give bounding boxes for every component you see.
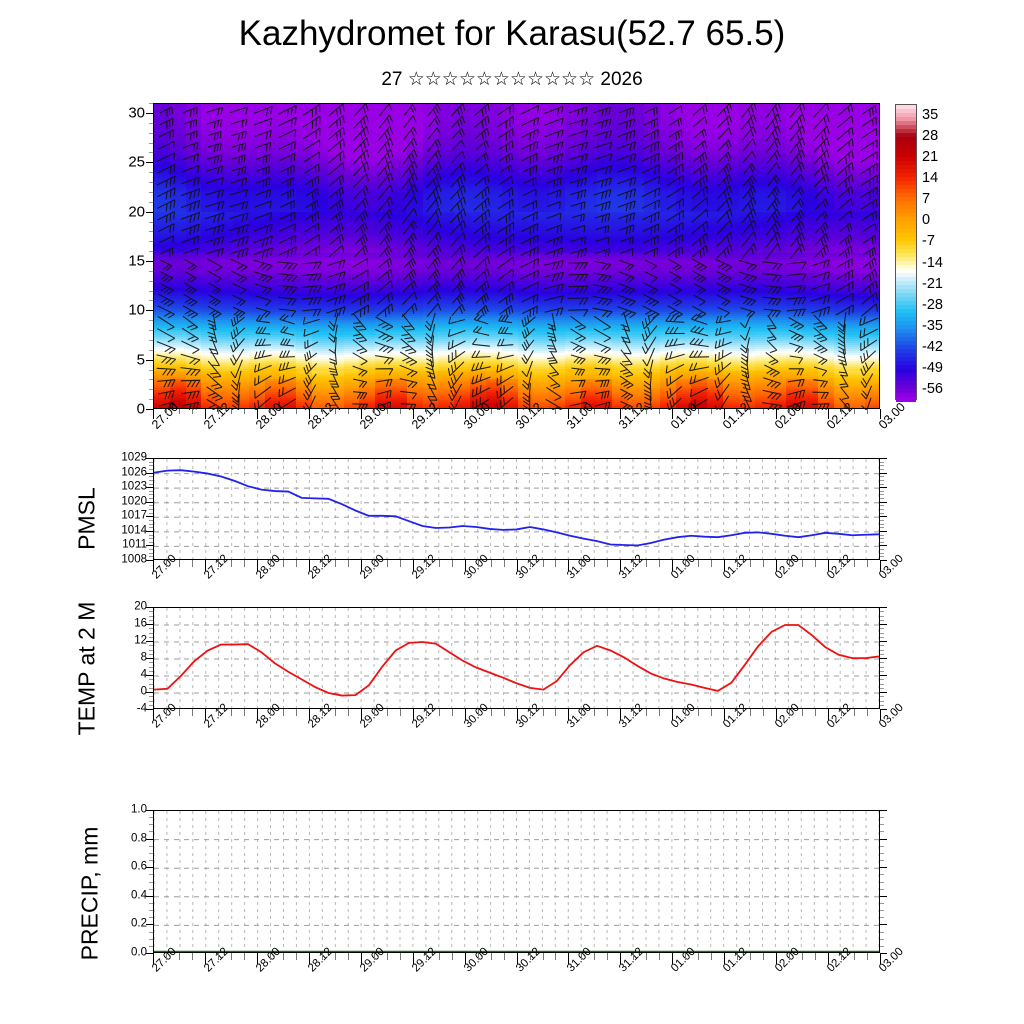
temp2m-y-tick (146, 607, 153, 608)
pmsl-x-tick-minor (231, 560, 232, 567)
temp2m-y-tick (880, 709, 887, 710)
temp2m-y-tick-minor (880, 662, 884, 663)
cross-section-x-minor-tick (387, 409, 388, 414)
cross-section-y-tick-label: 10 (105, 303, 145, 318)
pmsl-x-tick-minor (166, 560, 167, 567)
cross-section-x-minor-tick (491, 409, 492, 414)
subtitle-month-glyphs: ☆☆☆☆☆☆☆☆☆☆☆ (408, 69, 595, 90)
temp2m-y-tick-minor (149, 611, 153, 612)
subtitle-day: 27 (381, 69, 402, 90)
temp2m-x-tick-minor (491, 709, 492, 716)
precip-y-tick (146, 896, 153, 897)
temp2m-x-tick-minor (504, 709, 505, 716)
precip-x-tick-minor (633, 953, 634, 960)
precip-panel (153, 810, 880, 953)
precip-x-tick-minor (192, 953, 193, 960)
precip-y-tick-label: 1.0 (101, 804, 147, 816)
pmsl-x-tick-minor (348, 560, 349, 567)
temp2m-y-tick (146, 675, 153, 676)
precip-y-tick-minor (149, 831, 153, 832)
temp2m-y-tick-minor (880, 688, 884, 689)
cross-section-y-minor-tick (149, 251, 153, 252)
precip-x-tick-minor (763, 953, 764, 960)
precip-y-tick (880, 810, 887, 811)
temp2m-panel (153, 607, 880, 709)
temp2m-x-tick-minor (815, 709, 816, 716)
precip-y-tick (880, 924, 887, 925)
precip-y-tick-minor (880, 939, 884, 940)
cross-section-y-minor-tick (149, 133, 153, 134)
precip-y-tick-minor (880, 889, 884, 890)
temp2m-y-tick-minor (149, 628, 153, 629)
pmsl-y-tick-minor (149, 494, 153, 495)
temp2m-x-tick-label: 03.00 (877, 702, 906, 731)
temp2m-y-tick-minor (880, 650, 884, 651)
pmsl-y-tick-minor (149, 465, 153, 466)
precip-y-tick-minor (149, 903, 153, 904)
pmsl-x-tick-minor (789, 560, 790, 567)
precip-y-tick (880, 839, 887, 840)
precip-y-tick-minor (880, 853, 884, 854)
temp2m-y-tick-label: 8 (101, 652, 147, 664)
pmsl-x-tick-minor (841, 560, 842, 567)
temp2m-y-tick-minor (149, 662, 153, 663)
temp2m-x-tick-minor (439, 709, 440, 716)
pmsl-y-tick (880, 560, 887, 561)
cross-section-y-minor-tick (149, 379, 153, 380)
cross-section-x-minor-tick (335, 409, 336, 414)
cross-section-x-minor-tick (698, 409, 699, 414)
precip-y-tick-minor (149, 917, 153, 918)
wind-barbs-overlay (154, 104, 881, 410)
temp2m-y-tick-minor (880, 667, 884, 668)
temp2m-x-tick-minor (750, 709, 751, 716)
temp2m-y-tick (146, 624, 153, 625)
cross-section-y-minor-tick (149, 389, 153, 390)
precip-x-tick-minor (231, 953, 232, 960)
temp2m-x-tick-minor (478, 709, 479, 716)
temp2m-axis-title: TEMP at 2 M (74, 569, 101, 769)
pmsl-x-tick-minor (685, 560, 686, 567)
pmsl-y-tick-minor (880, 491, 884, 492)
cross-section-y-tick (146, 409, 153, 410)
pmsl-y-tick-minor (880, 549, 884, 550)
precip-y-tick-minor (149, 910, 153, 911)
pmsl-y-tick-minor (880, 484, 884, 485)
precip-x-tick-minor (555, 953, 556, 960)
cross-section-x-minor-tick (581, 409, 582, 414)
temp2m-x-tick-minor (841, 709, 842, 716)
cross-section-x-minor-tick (322, 409, 323, 414)
precip-x-tick-minor (426, 953, 427, 960)
precip-x-tick-minor (789, 953, 790, 960)
precip-y-tick-minor (149, 939, 153, 940)
temp2m-y-tick-minor (880, 679, 884, 680)
subtitle-year: 2026 (600, 69, 642, 90)
cross-section-x-minor-tick (543, 409, 544, 414)
colorbar-tick-label: -21 (922, 276, 943, 292)
pmsl-x-tick-minor (491, 560, 492, 567)
precip-y-tick-minor (149, 846, 153, 847)
precip-y-tick (146, 810, 153, 811)
cross-section-y-minor-tick (149, 123, 153, 124)
pmsl-x-tick-minor (283, 560, 284, 567)
temp2m-y-tick (146, 641, 153, 642)
temp2m-x-tick-minor (374, 709, 375, 716)
pmsl-x-tick-minor (815, 560, 816, 567)
cross-section-x-minor-tick (231, 409, 232, 414)
precip-y-tick-minor (880, 817, 884, 818)
colorbar-tick-label: 21 (922, 149, 938, 165)
pmsl-grid (154, 459, 879, 559)
pmsl-y-tick-minor (149, 462, 153, 463)
cross-section-x-minor-tick (166, 409, 167, 414)
temp2m-y-tick-label: 0 (101, 686, 147, 698)
pmsl-x-tick-minor (581, 560, 582, 567)
precip-y-tick-minor (880, 903, 884, 904)
temp2m-x-tick-minor (452, 709, 453, 716)
pmsl-y-tick-minor (880, 462, 884, 463)
temp2m-x-tick-minor (789, 709, 790, 716)
pmsl-x-tick-minor (737, 560, 738, 567)
pmsl-y-tick (146, 458, 153, 459)
precip-x-tick-minor (607, 953, 608, 960)
precip-x-tick-minor (491, 953, 492, 960)
pmsl-y-tick-label: 1026 (101, 467, 147, 479)
cross-section-x-minor-tick (594, 409, 595, 414)
colorbar-tick-label: -56 (922, 381, 943, 397)
pmsl-x-tick-minor (854, 560, 855, 567)
cross-section-y-tick-label: 30 (105, 105, 145, 120)
meteogram-page: Kazhydromet for Karasu(52.7 65.5) 27 ☆☆☆… (0, 0, 1024, 1024)
temp2m-y-tick-label: 20 (101, 601, 147, 613)
temp2m-x-tick-minor (607, 709, 608, 716)
temp2m-x-tick-minor (426, 709, 427, 716)
pmsl-y-tick (146, 473, 153, 474)
temp2m-y-tick-minor (880, 671, 884, 672)
pmsl-x-tick-minor (659, 560, 660, 567)
pmsl-y-tick-minor (880, 480, 884, 481)
temp2m-y-tick-label: 12 (101, 635, 147, 647)
temp2m-y-tick (146, 709, 153, 710)
precip-x-tick-minor (594, 953, 595, 960)
precip-y-tick-label: 0.4 (101, 890, 147, 902)
precip-y-tick (146, 924, 153, 925)
temp2m-y-tick-minor (880, 611, 884, 612)
temp2m-y-tick-minor (149, 688, 153, 689)
temp2m-y-tick (880, 624, 887, 625)
pmsl-y-tick (880, 458, 887, 459)
pmsl-x-tick-minor (594, 560, 595, 567)
precip-x-tick-minor (218, 953, 219, 960)
precip-x-tick-minor (841, 953, 842, 960)
pmsl-y-tick (146, 516, 153, 517)
pmsl-y-tick-minor (880, 513, 884, 514)
precip-y-tick-minor (149, 946, 153, 947)
colorbar-tick-label: -7 (922, 233, 935, 249)
temp2m-x-tick-minor (400, 709, 401, 716)
cross-section-y-minor-tick (149, 231, 153, 232)
temp2m-x-tick-minor (296, 709, 297, 716)
temp2m-y-tick (880, 658, 887, 659)
cross-section-y-tick-label: 20 (105, 204, 145, 219)
colorbar-tick-label: 14 (922, 170, 938, 186)
cross-section-x-minor-tick (348, 409, 349, 414)
cross-section-y-minor-tick (149, 271, 153, 272)
pmsl-y-tick-label: 1014 (101, 525, 147, 537)
cross-section-y-tick-label: 15 (105, 253, 145, 268)
pmsl-y-tick-minor (880, 494, 884, 495)
precip-y-tick-minor (880, 824, 884, 825)
precip-x-tick-minor (685, 953, 686, 960)
precip-y-tick-minor (880, 882, 884, 883)
temp2m-y-tick (880, 641, 887, 642)
cross-section-x-minor-tick (218, 409, 219, 414)
cross-section-x-minor-tick (478, 409, 479, 414)
temp2m-y-tick-minor (880, 620, 884, 621)
pmsl-x-tick-minor (426, 560, 427, 567)
cross-section-y-minor-tick (149, 241, 153, 242)
pmsl-y-tick (880, 487, 887, 488)
cross-section-y-tick-label: 0 (105, 402, 145, 417)
temp2m-x-tick-minor (659, 709, 660, 716)
cross-section-x-minor-tick (802, 409, 803, 414)
pmsl-y-tick-label: 1017 (101, 511, 147, 523)
precip-y-tick-minor (880, 860, 884, 861)
precip-x-tick-minor (452, 953, 453, 960)
precip-x-tick-minor (166, 953, 167, 960)
pmsl-y-tick-minor (149, 505, 153, 506)
cross-section-x-minor-tick (244, 409, 245, 414)
pmsl-y-tick (146, 545, 153, 546)
pmsl-x-tick-minor (218, 560, 219, 567)
cross-section-x-minor-tick (737, 409, 738, 414)
cross-section-y-minor-tick (149, 103, 153, 104)
temp2m-line (154, 625, 879, 696)
temp2m-x-tick-minor (543, 709, 544, 716)
precip-x-tick-minor (400, 953, 401, 960)
pmsl-y-tick-minor (880, 476, 884, 477)
precip-x-tick-minor (815, 953, 816, 960)
temp2m-x-tick-minor (737, 709, 738, 716)
temp2m-x-tick-minor (867, 709, 868, 716)
cross-section-x-minor-tick (504, 409, 505, 414)
pmsl-x-tick-minor (439, 560, 440, 567)
pmsl-y-tick (146, 502, 153, 503)
temp2m-x-tick-minor (802, 709, 803, 716)
cross-section-y-tick-label: 25 (105, 155, 145, 170)
precip-x-tick-minor (698, 953, 699, 960)
pmsl-y-tick-label: 1008 (101, 554, 147, 566)
temp2m-y-tick-label: 16 (101, 618, 147, 630)
precip-x-tick-minor (179, 953, 180, 960)
pmsl-y-tick-minor (880, 509, 884, 510)
precip-y-tick-minor (880, 946, 884, 947)
pmsl-x-tick-minor (633, 560, 634, 567)
precip-y-tick-minor (149, 882, 153, 883)
pmsl-y-tick-minor (880, 538, 884, 539)
pmsl-x-tick-minor (867, 560, 868, 567)
cross-section-x-minor-tick (270, 409, 271, 414)
pmsl-x-tick-minor (802, 560, 803, 567)
pmsl-y-tick-minor (149, 484, 153, 485)
precip-y-tick (880, 896, 887, 897)
precip-x-tick-minor (439, 953, 440, 960)
pmsl-x-tick-minor (698, 560, 699, 567)
temp2m-x-tick-minor (192, 709, 193, 716)
pmsl-y-tick (880, 502, 887, 503)
precip-y-tick-minor (880, 910, 884, 911)
cross-section-y-minor-tick (149, 172, 153, 173)
pmsl-y-tick-minor (149, 469, 153, 470)
cross-section-y-tick (146, 310, 153, 311)
precip-x-tick-minor (854, 953, 855, 960)
precip-x-tick-minor (478, 953, 479, 960)
temp2m-y-tick-minor (880, 637, 884, 638)
pmsl-y-tick-minor (880, 556, 884, 557)
colorbar-tick-label: 28 (922, 128, 938, 144)
precip-y-tick-minor (149, 860, 153, 861)
temp2m-y-tick-minor (149, 684, 153, 685)
pmsl-y-tick-minor (149, 524, 153, 525)
precip-y-tick-minor (880, 831, 884, 832)
colorbar-tick-label: -35 (922, 318, 943, 334)
precip-x-tick-minor (335, 953, 336, 960)
temp2m-y-tick-minor (880, 701, 884, 702)
pmsl-y-tick-minor (880, 465, 884, 466)
precip-plot (154, 811, 879, 952)
precip-y-tick-label: 0.6 (101, 861, 147, 873)
pmsl-y-tick-minor (149, 542, 153, 543)
precip-x-tick-minor (348, 953, 349, 960)
temp2m-x-tick-minor (698, 709, 699, 716)
precip-y-tick (880, 867, 887, 868)
cross-section-x-minor-tick (555, 409, 556, 414)
precip-y-tick-minor (880, 932, 884, 933)
colorbar-tick-label: -14 (922, 255, 943, 271)
temp2m-y-tick-minor (880, 705, 884, 706)
colorbar-tick-label: 7 (922, 191, 930, 207)
cross-section-x-minor-tick (815, 409, 816, 414)
precip-x-tick-minor (581, 953, 582, 960)
cross-section-x-minor-tick (711, 409, 712, 414)
pmsl-x-tick-minor (244, 560, 245, 567)
cross-section-x-minor-tick (296, 409, 297, 414)
pmsl-plot (154, 459, 879, 559)
cross-section-y-tick-label: 5 (105, 352, 145, 367)
pmsl-x-tick-minor (750, 560, 751, 567)
cross-section-x-minor-tick (685, 409, 686, 414)
temp2m-grid (154, 608, 879, 708)
temp2m-x-tick-minor (530, 709, 531, 716)
temp2m-y-tick-minor (880, 628, 884, 629)
temp2m-y-tick-minor (149, 701, 153, 702)
temp2m-x-tick-minor (270, 709, 271, 716)
cross-section-y-minor-tick (149, 192, 153, 193)
temp2m-y-tick-minor (149, 696, 153, 697)
precip-y-tick-minor (149, 853, 153, 854)
precip-x-tick-minor (750, 953, 751, 960)
cross-section-x-minor-tick (867, 409, 868, 414)
temp2m-plot (154, 608, 879, 708)
cross-section-y-minor-tick (149, 320, 153, 321)
cross-section-x-minor-tick (439, 409, 440, 414)
pmsl-x-tick-minor (192, 560, 193, 567)
pmsl-y-tick-label: 1011 (101, 540, 147, 552)
pmsl-y-tick-minor (149, 491, 153, 492)
cross-section-x-minor-tick (659, 409, 660, 414)
temp2m-x-tick-minor (685, 709, 686, 716)
pmsl-y-tick-minor (149, 520, 153, 521)
cross-section-y-minor-tick (149, 281, 153, 282)
pmsl-panel (153, 458, 880, 560)
precip-y-tick (146, 839, 153, 840)
precip-x-tick-minor (802, 953, 803, 960)
precip-y-tick-minor (880, 917, 884, 918)
temp2m-y-tick (880, 692, 887, 693)
cross-section-y-tick (146, 261, 153, 262)
colorbar-tick-label: 0 (922, 212, 930, 228)
pmsl-x-tick-minor (478, 560, 479, 567)
temp2m-x-tick-minor (166, 709, 167, 716)
pmsl-y-tick-minor (880, 524, 884, 525)
pmsl-y-tick-label: 1023 (101, 481, 147, 493)
cross-section-x-minor-tick (426, 409, 427, 414)
pmsl-y-tick-minor (149, 509, 153, 510)
temp2m-y-tick-minor (149, 633, 153, 634)
temp2m-x-tick-minor (555, 709, 556, 716)
precip-y-tick-minor (880, 846, 884, 847)
temp2m-y-tick-minor (149, 679, 153, 680)
precip-x-tick-minor (737, 953, 738, 960)
pmsl-y-tick-minor (149, 553, 153, 554)
temp2m-y-tick-minor (149, 705, 153, 706)
pmsl-y-tick-minor (880, 553, 884, 554)
temp2m-y-tick (146, 692, 153, 693)
cross-section-y-tick (146, 212, 153, 213)
temp2m-y-tick-minor (149, 671, 153, 672)
pmsl-x-tick-minor (543, 560, 544, 567)
pmsl-y-tick-minor (880, 520, 884, 521)
precip-y-tick (146, 867, 153, 868)
precip-x-tick-minor (374, 953, 375, 960)
cross-section-x-minor-tick (763, 409, 764, 414)
precip-y-tick-minor (149, 874, 153, 875)
precip-x-tick-minor (322, 953, 323, 960)
cross-section-y-tick (146, 162, 153, 163)
temp2m-x-tick-minor (348, 709, 349, 716)
temp2m-y-tick (880, 675, 887, 676)
temp2m-y-tick-label: -4 (101, 703, 147, 715)
colorbar-tick-label: -28 (922, 297, 943, 313)
pmsl-y-tick-minor (149, 538, 153, 539)
pmsl-y-tick-minor (880, 498, 884, 499)
colorbar-tick-label: 35 (922, 107, 938, 123)
precip-axis-title: PRECIP, mm (77, 784, 104, 1004)
cross-section-y-tick (146, 360, 153, 361)
precip-y-tick-label: 0.2 (101, 919, 147, 931)
pmsl-x-tick-minor (607, 560, 608, 567)
precip-x-tick-label: 03.00 (877, 946, 906, 975)
precip-y-tick-minor (149, 817, 153, 818)
cross-section-y-minor-tick (149, 291, 153, 292)
cross-section-x-minor-tick (841, 409, 842, 414)
temp2m-x-tick-minor (763, 709, 764, 716)
temp2m-y-tick-minor (149, 620, 153, 621)
cross-section-x-minor-tick (374, 409, 375, 414)
colorbar-tick-label: -42 (922, 339, 943, 355)
cross-section-x-minor-tick (633, 409, 634, 414)
